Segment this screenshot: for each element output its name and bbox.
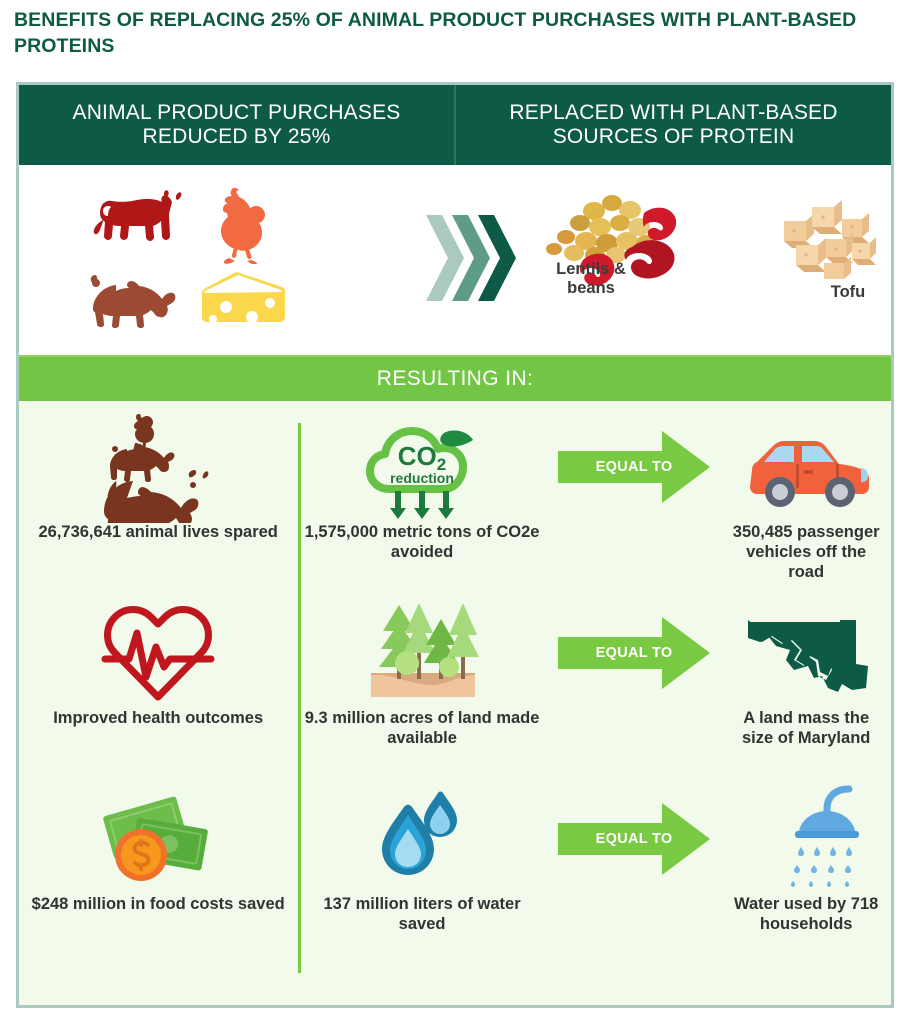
benefit-cell: Improved health outcomes: [19, 597, 297, 729]
page-title: BENEFITS OF REPLACING 25% OF ANIMAL PROD…: [14, 8, 874, 59]
forest-trees-icon: [359, 597, 485, 709]
section-header-bar: ANIMAL PRODUCT PURCHASES REDUCED BY 25% …: [19, 85, 891, 165]
header-left-label: ANIMAL PRODUCT PURCHASES REDUCED BY 25%: [19, 85, 456, 165]
header-right-label: REPLACED WITH PLANT-BASED SOURCES OF PRO…: [456, 85, 891, 165]
equivalent-caption: 350,485 passenger vehicles off the road: [721, 523, 891, 582]
equivalent-caption: Water used by 718 households: [721, 895, 891, 935]
equal-to-cell: EQUAL TO: [547, 411, 722, 523]
metric-cell: 9.3 million acres of land made available: [297, 597, 546, 749]
metric-cell: CO2 reduction 1,575,000 metric tons of C…: [297, 411, 546, 563]
equivalent-cell: A land mass the size of Maryland: [721, 597, 891, 749]
equal-to-cell: EQUAL TO: [547, 597, 722, 709]
water-drops-icon: [370, 783, 474, 895]
metric-caption: 137 million liters of water saved: [297, 895, 546, 935]
equivalent-cell: 350,485 passenger vehicles off the road: [721, 411, 891, 582]
results-section: 26,736,641 animal lives spared CO2 reduc…: [19, 401, 891, 1005]
plant-protein-group: Lentils & beans: [516, 165, 891, 355]
lentils-label: Lentils & beans: [536, 260, 646, 299]
metric-cell: 137 million liters of water saved: [297, 783, 546, 935]
equivalent-caption: A land mass the size of Maryland: [721, 709, 891, 749]
benefit-caption: Improved health outcomes: [47, 709, 269, 729]
result-row: 26,736,641 animal lives spared CO2 reduc…: [19, 411, 891, 597]
equal-to-cell: EQUAL TO: [547, 783, 722, 895]
result-row: Improved health outcomes: [19, 597, 891, 783]
animal-icon-grid: [79, 187, 299, 337]
equal-to-arrow: EQUAL TO: [554, 801, 714, 877]
co2-reduction-cloud-icon: CO2 reduction: [359, 411, 485, 523]
benefit-caption: $248 million in food costs saved: [26, 895, 291, 915]
infographic-card: ANIMAL PRODUCT PURCHASES REDUCED BY 25% …: [16, 82, 894, 1008]
resulting-in-banner: RESULTING IN:: [19, 357, 891, 401]
tofu-label: Tofu: [808, 283, 888, 302]
money-coin-icon: [93, 783, 223, 895]
tofu-icon: [768, 193, 888, 290]
chicken-icon: [211, 186, 277, 269]
triple-chevron-right-icon: [422, 211, 522, 310]
replacement-arrow: [429, 211, 516, 310]
cheese-icon: [196, 269, 292, 336]
benefit-cell: 26,736,641 animal lives spared: [19, 411, 297, 543]
animal-products-group: [19, 165, 429, 355]
stacked-farm-animals-icon: [93, 411, 223, 523]
replacement-panel: Lentils & beans: [19, 165, 891, 357]
metric-caption: 9.3 million acres of land made available: [297, 709, 546, 749]
equal-to-arrow: EQUAL TO: [554, 429, 714, 505]
infographic-page: BENEFITS OF REPLACING 25% OF ANIMAL PROD…: [0, 0, 905, 1024]
benefit-caption: 26,736,641 animal lives spared: [32, 523, 283, 543]
svg-text:reduction: reduction: [390, 470, 454, 486]
equal-to-arrow: EQUAL TO: [554, 615, 714, 691]
car-icon: [736, 411, 876, 523]
result-row: $248 million in food costs saved 137 mil…: [19, 783, 891, 969]
shower-icon: [743, 783, 869, 895]
maryland-map-icon: [740, 597, 872, 709]
equivalent-cell: Water used by 718 households: [721, 783, 891, 935]
metric-caption: 1,575,000 metric tons of CO2e avoided: [297, 523, 546, 563]
heart-pulse-icon: [99, 597, 217, 709]
benefit-cell: $248 million in food costs saved: [19, 783, 297, 915]
pig-icon: [86, 269, 182, 336]
cow-icon: [86, 190, 182, 265]
